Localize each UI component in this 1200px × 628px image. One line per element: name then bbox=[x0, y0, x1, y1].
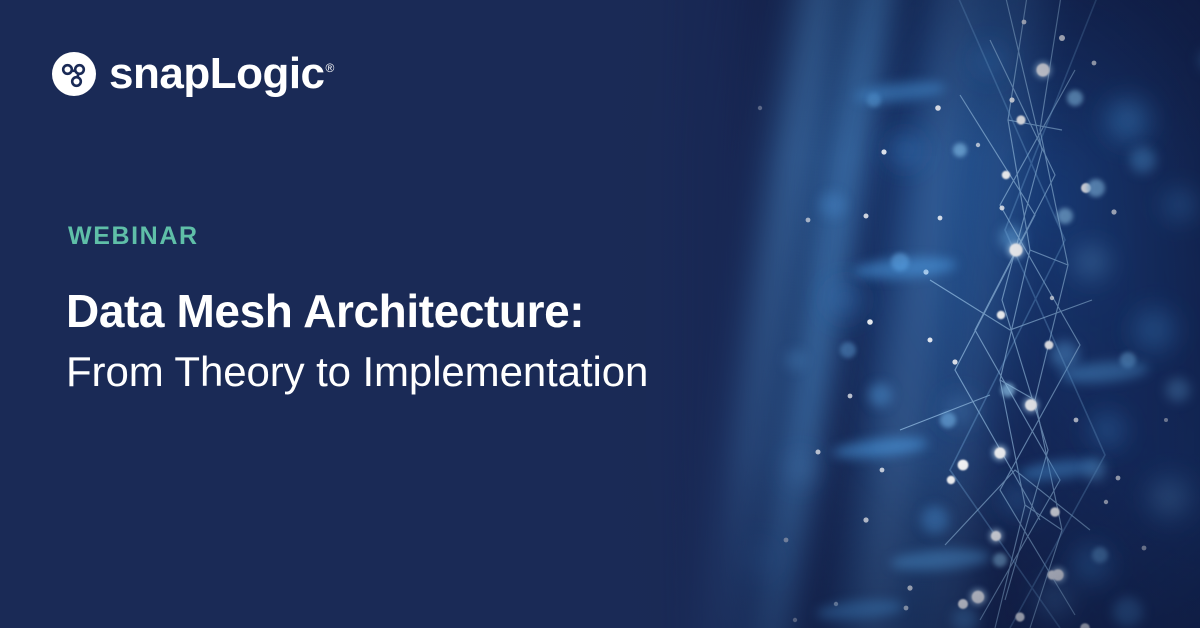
registered-trademark-symbol: ® bbox=[326, 61, 334, 75]
eyebrow-label: WEBINAR bbox=[68, 224, 199, 249]
banner-content: snapLogic® WEBINAR Data Mesh Architectur… bbox=[0, 0, 1200, 628]
snaplogic-logo-mark bbox=[52, 52, 96, 96]
subheadline-title: From Theory to Implementation bbox=[66, 351, 648, 393]
headline-title: Data Mesh Architecture: bbox=[66, 288, 584, 334]
webinar-banner: snapLogic® WEBINAR Data Mesh Architectur… bbox=[0, 0, 1200, 628]
snaplogic-wordmark: snapLogic® bbox=[109, 52, 334, 96]
wordmark-text: snapLogic bbox=[109, 49, 325, 98]
snaplogic-logo[interactable]: snapLogic® bbox=[52, 52, 334, 96]
